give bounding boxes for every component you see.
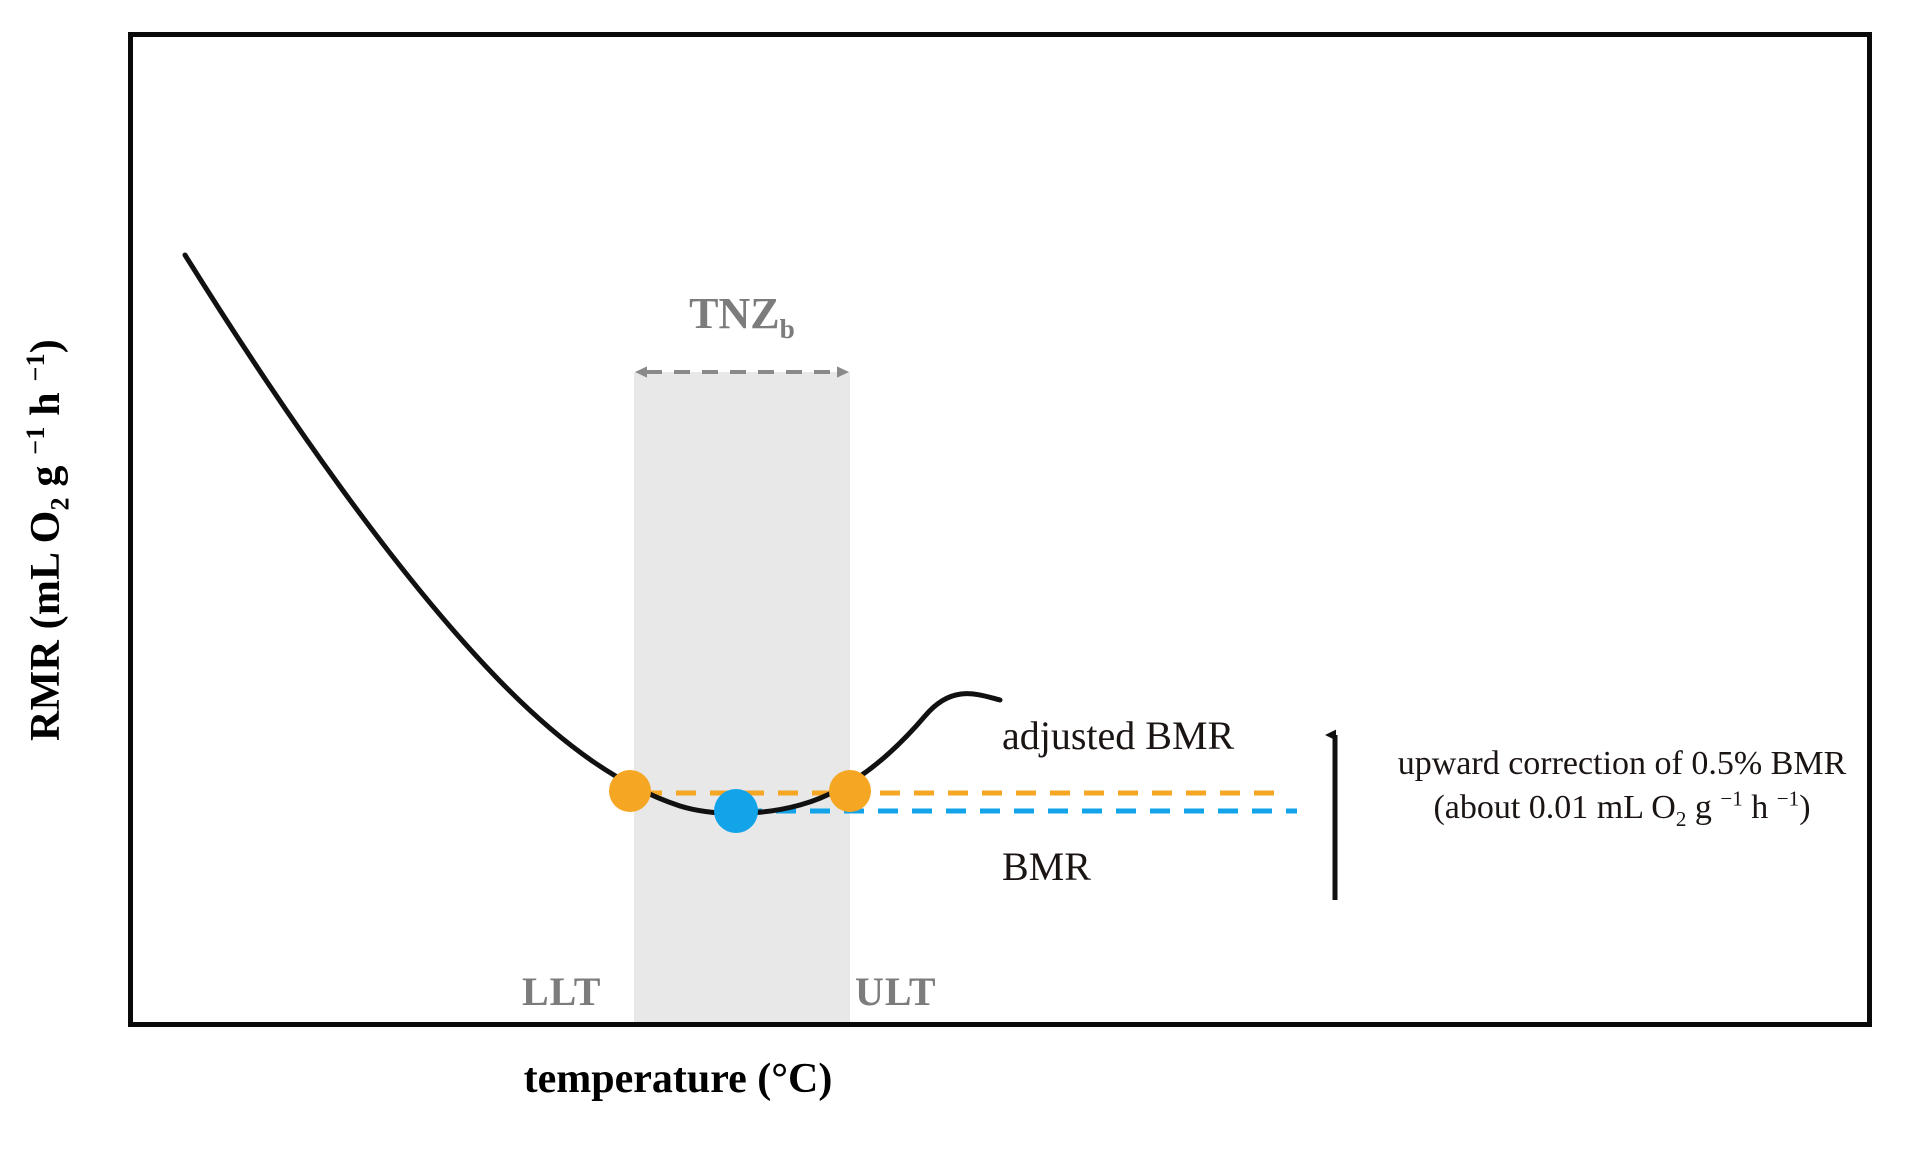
x-axis-title: temperature (°C) [128,1055,1228,1103]
correction-o2-subscript: 2 [1676,806,1687,830]
tnz-label: TNZb [634,288,850,339]
correction-h-exponent: −1 [1777,786,1799,810]
y-axis-title: RMR (mL O2 g −1 h −1) [14,190,78,890]
y-axis-h-exponent: −1 [21,353,50,381]
llt-label: LLT [522,968,601,1015]
y-axis-title-text: RMR (mL O2 g −1 h −1) [22,339,70,741]
bmr-label: BMR [1002,843,1091,890]
thermoneutral-zone-band [634,372,850,1022]
adjusted-bmr-label: adjusted BMR [1002,712,1234,759]
plot-frame [128,32,1872,1027]
correction-note-line2: (about 0.01 mL O2 g −1 h −1) [1362,786,1882,830]
figure-root: RMR (mL O2 g −1 h −1) [0,0,1909,1151]
correction-note-line1: upward correction of 0.5% BMR [1398,745,1847,782]
y-axis-o2-subscript: 2 [45,497,74,510]
ult-label: ULT [855,968,937,1015]
tnz-subscript: b [780,314,795,344]
correction-g-exponent: −1 [1720,786,1742,810]
correction-note: upward correction of 0.5% BMR (about 0.0… [1362,742,1882,829]
y-axis-g-exponent: −1 [21,426,50,454]
